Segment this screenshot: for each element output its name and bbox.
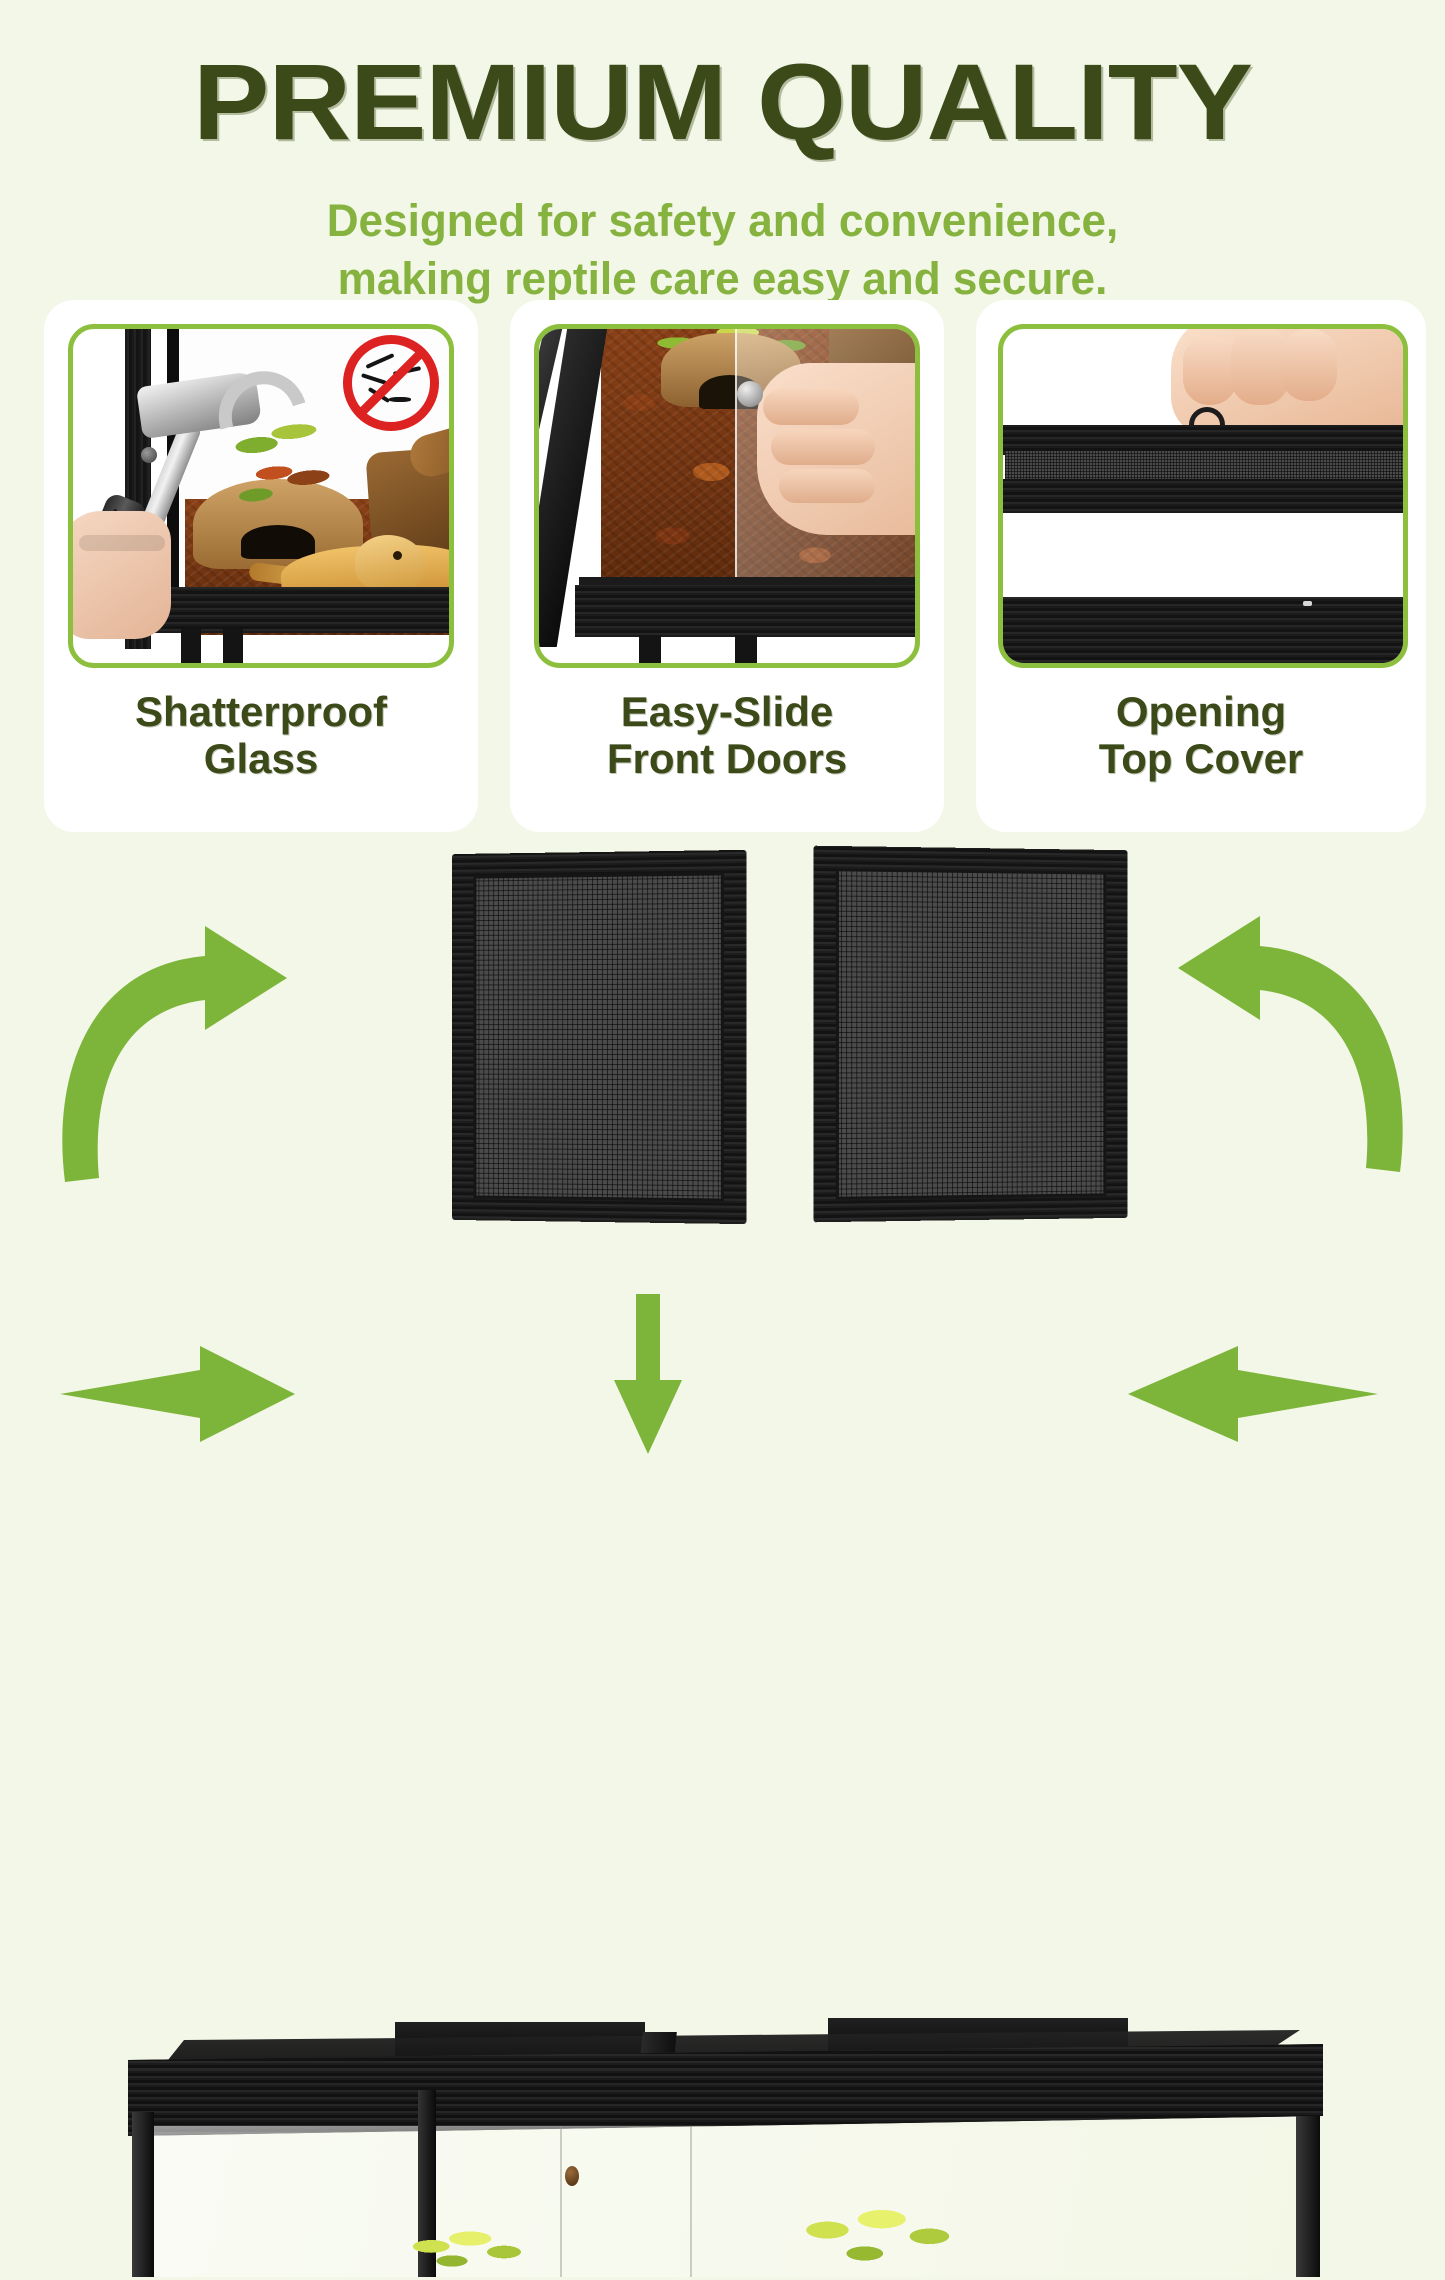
arrow-top-left bbox=[55, 892, 295, 1192]
feature-label-line-2: Glass bbox=[54, 735, 468, 782]
feature-label-opening-top-cover: Opening Top Cover bbox=[986, 688, 1416, 782]
arrow-bottom-left bbox=[60, 1344, 295, 1444]
feature-card-row: Shatterproof Glass bbox=[0, 300, 1445, 832]
promo-banner: PREMIUM QUALITY Designed for safety and … bbox=[0, 0, 1445, 1445]
terrarium-plant-right bbox=[790, 2202, 960, 2280]
feature-label-easy-slide-front-doors: Easy-Slide Front Doors bbox=[520, 688, 934, 782]
subtitle-line-2: making reptile care easy and secure. bbox=[14, 250, 1430, 308]
hero-terrarium-image bbox=[0, 832, 1445, 1445]
feature-label-line-1: Opening bbox=[986, 688, 1416, 735]
feature-label-line-1: Shatterproof bbox=[54, 688, 468, 735]
top-cover-panel-left bbox=[452, 850, 746, 1224]
arrow-bottom-center bbox=[608, 1294, 688, 1454]
page-title: PREMIUM QUALITY bbox=[0, 48, 1445, 156]
feature-label-line-2: Top Cover bbox=[986, 735, 1416, 782]
feature-label-line-1: Easy-Slide bbox=[520, 688, 934, 735]
feature-label-shatterproof-glass: Shatterproof Glass bbox=[54, 688, 468, 782]
arrow-bottom-right bbox=[1128, 1344, 1378, 1444]
feature-card-opening-top-cover: Opening Top Cover bbox=[976, 300, 1426, 832]
feature-photo-opening-top-cover bbox=[998, 324, 1408, 668]
feature-label-line-2: Front Doors bbox=[520, 735, 934, 782]
terrarium-front-glass bbox=[154, 2126, 1298, 2277]
feature-photo-easy-slide-front-doors bbox=[534, 324, 920, 668]
feature-card-shatterproof-glass: Shatterproof Glass bbox=[44, 300, 478, 832]
top-cover-panel-right bbox=[813, 846, 1127, 1223]
terrarium-plant-left bbox=[400, 2224, 530, 2280]
feature-photo-shatterproof-glass bbox=[68, 324, 454, 668]
feature-card-easy-slide-front-doors: Easy-Slide Front Doors bbox=[510, 300, 944, 832]
door-knob bbox=[565, 2166, 579, 2186]
arrow-top-right bbox=[1150, 882, 1410, 1182]
no-crack-prohibition-icon bbox=[343, 335, 439, 431]
subtitle-line-1: Designed for safety and convenience, bbox=[14, 192, 1430, 250]
page-subtitle: Designed for safety and convenience, mak… bbox=[14, 192, 1430, 307]
